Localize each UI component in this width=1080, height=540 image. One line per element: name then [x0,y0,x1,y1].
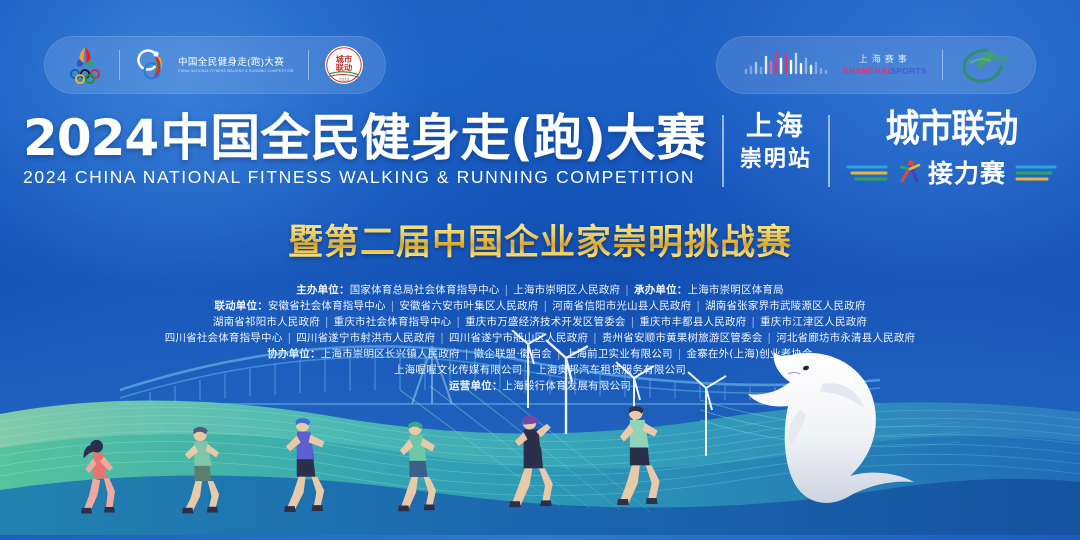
credit-org: 安徽省社会体育指导中心 [268,300,386,312]
event-poster: 中国全民健身走(跑)大赛 CHINA NATIONAL FITNESS WALK… [0,0,1080,540]
credit-separator: | [451,316,465,328]
credit-org: 重庆市丰都县人民政府 [639,316,746,328]
credit-org: 河南省信阳市光山县人民政府 [552,300,691,312]
credit-org: 上海市崇明区体育局 [688,284,784,296]
credit-org: 湖南省祁阳市人民政府 [213,316,320,328]
credit-org: 重庆市江津区人民政府 [760,316,867,328]
shanghai-sports-en-b: SPORTS [890,66,927,76]
credit-line-2: 联动单位：安徽省社会体育指导中心|安徽省六安市叶集区人民政府|河南省信阳市光山县… [0,298,1080,314]
relay-runner-icon [897,159,923,185]
credit-org: 国家体育总局社会体育指导中心 [350,284,500,296]
logo-divider-1 [119,50,120,80]
relay-logo-block: 城市联动 接力赛 [846,112,1057,190]
credit-org: 重庆市社会体育指导中心 [334,316,452,328]
credit-separator: | [620,284,634,296]
eco-green-leaf-logo: 2008 [958,45,1010,85]
runner-silhouette [431,414,444,427]
title-year: 2024 [23,109,158,167]
credit-separator: | [691,300,705,312]
shanghai-sports-en-a: SHANGHAI [842,66,890,76]
title-cn-text: 中国全民健身走(跑)大赛 [160,109,706,167]
shanghai-sports-waveform-icon [742,48,832,82]
station-badge: 上海 崇明站 [740,112,812,172]
runner-silhouette [617,406,660,505]
credit-org: 湖南省张家界市武陵源区人民政府 [705,300,866,312]
title-en-subtitle: 2024 CHINA NATIONAL FITNESS WALKING & RU… [23,167,695,188]
subtitle-block: 暨第二届中国企业家崇明挑战赛 [0,214,1080,265]
city-link-badge-icon: 城市 联动 2024 [324,44,364,86]
logo-divider-2 [308,50,309,80]
runner-right-layer [0,330,1080,540]
footer-bar [0,535,1080,540]
fitness-emblem-icon [135,47,171,83]
fitness-logo-cn-text: 中国全民健身走(跑)大赛 [178,57,293,69]
credit-line-1: 主办单位：国家体育总局社会体育指导中心|上海市崇明区人民政府|承办单位：上海市崇… [0,282,1080,298]
top-left-logo-group: 中国全民健身走(跑)大赛 CHINA NATIONAL FITNESS WALK… [44,36,386,94]
logo-divider-3 [942,50,943,80]
credit-separator: | [626,316,640,328]
credit-org: 重庆市万盛经济技术开发区管委会 [465,316,626,328]
credit-separator: | [500,284,514,296]
credit-separator: | [746,316,760,328]
title-text-group: 2024中国全民健身走(跑)大赛 2024 CHINA NATIONAL FIT… [23,112,706,188]
credit-separator: | [538,300,552,312]
credit-separator: | [320,316,334,328]
olympic-rings-icon [66,44,104,86]
scene-illustration [0,330,1080,540]
main-title-block: 2024中国全民健身走(跑)大赛 2024 CHINA NATIONAL FIT… [0,112,1080,190]
relay-brand: 城市联动 [885,110,1017,148]
waveform-bars-icon [742,48,832,82]
national-fitness-walking-running-logo: 中国全民健身走(跑)大赛 CHINA NATIONAL FITNESS WALK… [135,47,293,83]
svg-text:2024: 2024 [339,78,350,83]
fitness-logo-en-text: CHINA NATIONAL FITNESS WALKING & RUNNING… [178,69,293,73]
credit-label: 联动单位： [214,300,268,312]
title-divider-2 [828,115,830,187]
credit-label: 承办单位： [634,284,688,296]
shanghai-sports-cn: 上海赛事 [859,54,911,66]
title-divider-1 [722,115,724,187]
shanghai-sports-en: SHANGHAISPORTS [842,66,927,76]
page-title: 2024中国全民健身走(跑)大赛 [23,112,706,164]
relay-stripes-left-icon [846,161,892,183]
eco-logo-year: 2008 [994,55,1010,63]
relay-stripes-right-icon [1011,161,1057,183]
station-stop: 崇明站 [740,148,812,172]
city-link-badge-logo: 城市 联动 2024 [324,44,364,86]
credit-org: 安徽省六安市叶集区人民政府 [399,300,538,312]
top-right-logo-group: 上海赛事 SHANGHAISPORTS 2008 [716,36,1036,94]
station-city: 上海 [746,112,806,142]
event-subtitle: 暨第二届中国企业家崇明挑战赛 [288,214,792,265]
credit-org: 上海市崇明区人民政府 [513,284,620,296]
shanghai-sports-wordmark: 上海赛事 SHANGHAISPORTS [842,54,927,76]
eco-leaf-icon: 2008 [958,45,1010,85]
china-olympic-committee-logo [66,44,104,86]
svg-text:联动: 联动 [336,63,352,73]
credit-label: 主办单位： [296,284,350,296]
credit-line-3: 湖南省祁阳市人民政府|重庆市社会体育指导中心|重庆市万盛经济技术开发区管委会|重… [0,314,1080,330]
relay-event-label: 接力赛 [928,154,1006,190]
credit-separator: | [386,300,400,312]
